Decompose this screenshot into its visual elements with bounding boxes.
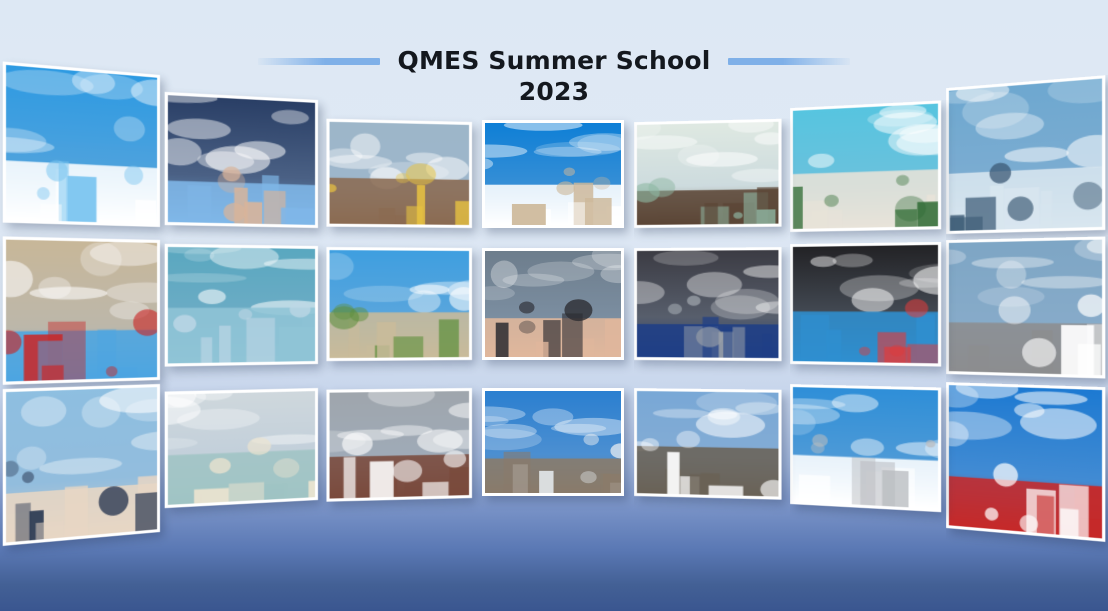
- page-title: QMES Summer School: [398, 46, 711, 77]
- gallery-photo-image: [637, 122, 778, 225]
- gallery-photo-image: [330, 250, 469, 358]
- gallery-photo[interactable]: [634, 119, 782, 228]
- gallery-photo[interactable]: [3, 384, 160, 546]
- gallery-photo[interactable]: [326, 119, 472, 228]
- gallery-photo[interactable]: [634, 388, 782, 500]
- gallery-photo-image: [330, 391, 469, 499]
- gallery-photo-image: [637, 391, 778, 497]
- gallery-photo[interactable]: [634, 247, 782, 361]
- gallery-photo-image: [6, 387, 157, 542]
- gallery-photo[interactable]: [482, 248, 624, 360]
- gallery-photo-image: [949, 385, 1102, 538]
- page-title-year: 2023: [0, 77, 1108, 108]
- gallery-photo[interactable]: [790, 100, 941, 232]
- gallery-photo-image: [793, 245, 938, 363]
- gallery-photo[interactable]: [3, 236, 160, 384]
- gallery-photo-image: [168, 391, 315, 505]
- gallery-photo[interactable]: [482, 120, 624, 228]
- gallery-photo-image: [485, 391, 621, 493]
- gallery-photo[interactable]: [326, 388, 472, 502]
- title-row: QMES Summer School: [0, 46, 1108, 77]
- gallery-photo[interactable]: [482, 388, 624, 496]
- gallery-photo[interactable]: [165, 244, 318, 367]
- slide-title-block: QMES Summer School 2023: [0, 46, 1108, 107]
- gallery-photo-image: [168, 247, 315, 363]
- gallery-photo-image: [637, 250, 778, 358]
- presentation-slide: QMES Summer School 2023: [0, 0, 1108, 611]
- gallery-photo-image: [793, 104, 938, 229]
- gallery-photo-image: [485, 251, 621, 357]
- gallery-photo-image: [330, 122, 469, 225]
- title-rule-right-icon: [728, 58, 850, 65]
- gallery-photo[interactable]: [326, 247, 472, 361]
- gallery-photo-image: [485, 123, 621, 225]
- gallery-photo[interactable]: [790, 242, 941, 367]
- gallery-photo[interactable]: [790, 384, 941, 512]
- gallery-photo[interactable]: [946, 236, 1105, 378]
- gallery-photo[interactable]: [165, 92, 318, 228]
- gallery-photo[interactable]: [165, 388, 318, 508]
- gallery-photo-image: [793, 387, 938, 509]
- gallery-photo-image: [949, 240, 1102, 376]
- gallery-photo[interactable]: [946, 382, 1105, 542]
- title-rule-left-icon: [258, 58, 380, 65]
- gallery-photo-image: [168, 95, 315, 225]
- gallery-photo-image: [6, 240, 157, 382]
